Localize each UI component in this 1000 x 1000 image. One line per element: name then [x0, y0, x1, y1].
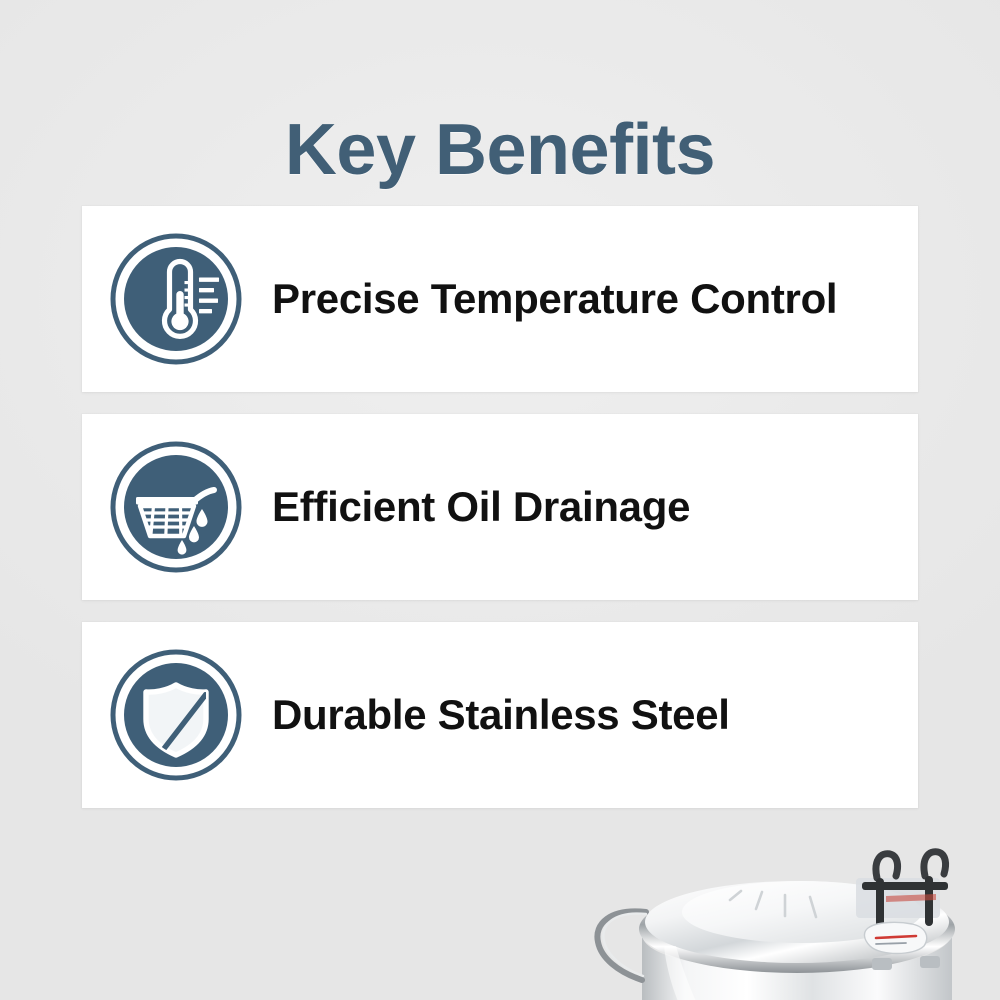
shield-icon [110, 649, 242, 781]
fryer-basket-drip-icon [110, 441, 242, 573]
benefit-label: Durable Stainless Steel [272, 693, 730, 737]
benefit-label: Efficient Oil Drainage [272, 485, 690, 529]
benefit-card[interactable]: Durable Stainless Steel [82, 622, 918, 808]
benefit-card[interactable]: Precise Temperature Control [82, 206, 918, 392]
benefit-card[interactable]: Efficient Oil Drainage [82, 414, 918, 600]
benefits-infographic: Key Benefits [0, 0, 1000, 1000]
benefit-label: Precise Temperature Control [272, 277, 837, 321]
thermometer-icon [110, 233, 242, 365]
benefit-card-list: Precise Temperature Control [82, 206, 918, 830]
page-title: Key Benefits [0, 114, 1000, 186]
